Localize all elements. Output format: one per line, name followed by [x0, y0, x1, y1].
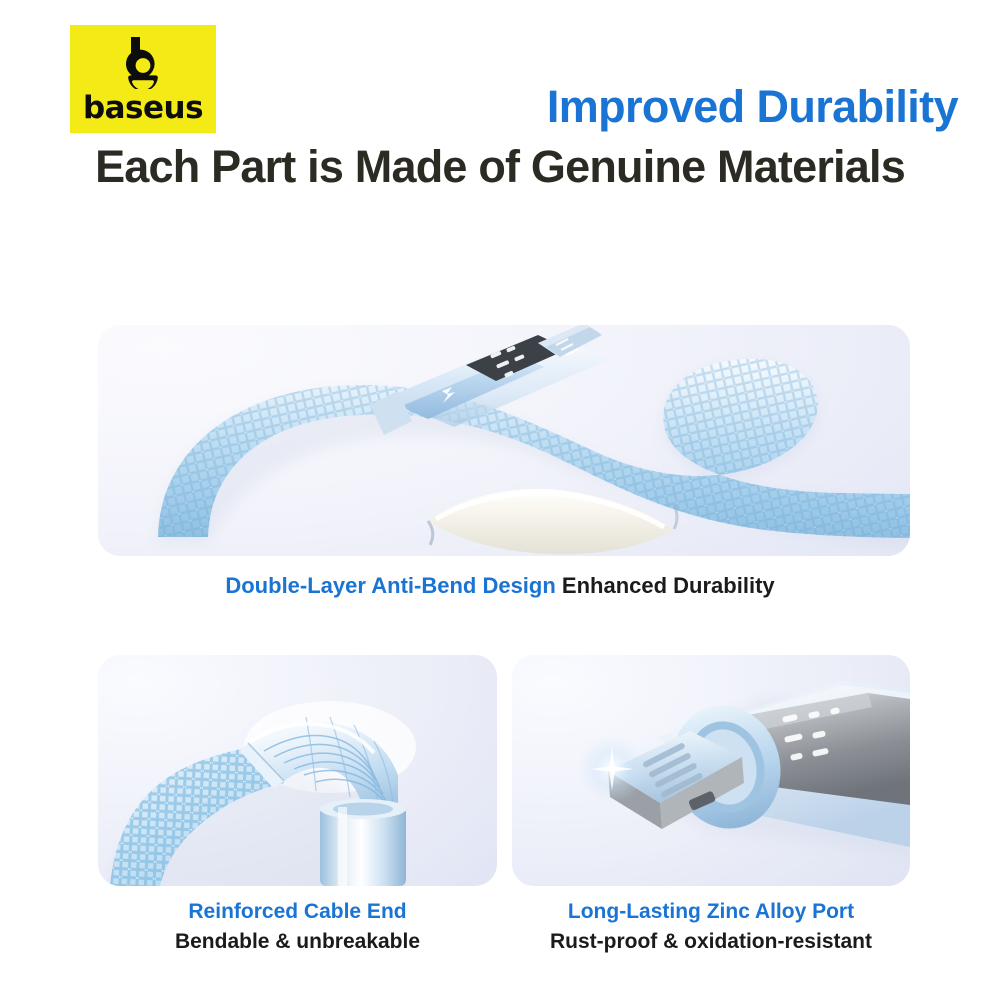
headline-secondary: Each Part is Made of Genuine Materials [0, 142, 1000, 192]
caption-tail: Enhanced Durability [562, 573, 775, 598]
caption-right-subtitle: Rust-proof & oxidation-resistant [512, 928, 910, 955]
brand-wordmark: baseus [83, 93, 203, 124]
bend-relief-illustration [98, 655, 497, 886]
caption-left-subtitle: Bendable & unbreakable [98, 928, 497, 955]
caption-zinc-alloy-port: Long-Lasting Zinc Alloy Port Rust-proof … [512, 898, 910, 956]
cable-loop-illustration [98, 325, 910, 556]
caption-highlight: Double-Layer Anti-Bend Design [225, 573, 555, 598]
brand-logo: baseus [70, 25, 216, 133]
headline-primary: Improved Durability [547, 84, 958, 129]
metal-barrel [320, 799, 406, 886]
feature-panel-double-layer [98, 325, 910, 556]
caption-reinforced-end: Reinforced Cable End Bendable & unbreaka… [98, 898, 497, 956]
caption-left-title: Reinforced Cable End [98, 898, 497, 925]
caption-double-layer: Double-Layer Anti-Bend Design Enhanced D… [0, 573, 1000, 599]
feature-panel-reinforced-end [98, 655, 497, 886]
feature-panel-zinc-alloy-port [512, 655, 910, 886]
baseus-b-mark-icon [121, 35, 165, 89]
caption-right-title: Long-Lasting Zinc Alloy Port [512, 898, 910, 925]
inner-core-layer [428, 489, 677, 554]
product-feature-page: baseus Improved Durability Each Part is … [0, 0, 1000, 1000]
zinc-connector-illustration [512, 655, 910, 886]
